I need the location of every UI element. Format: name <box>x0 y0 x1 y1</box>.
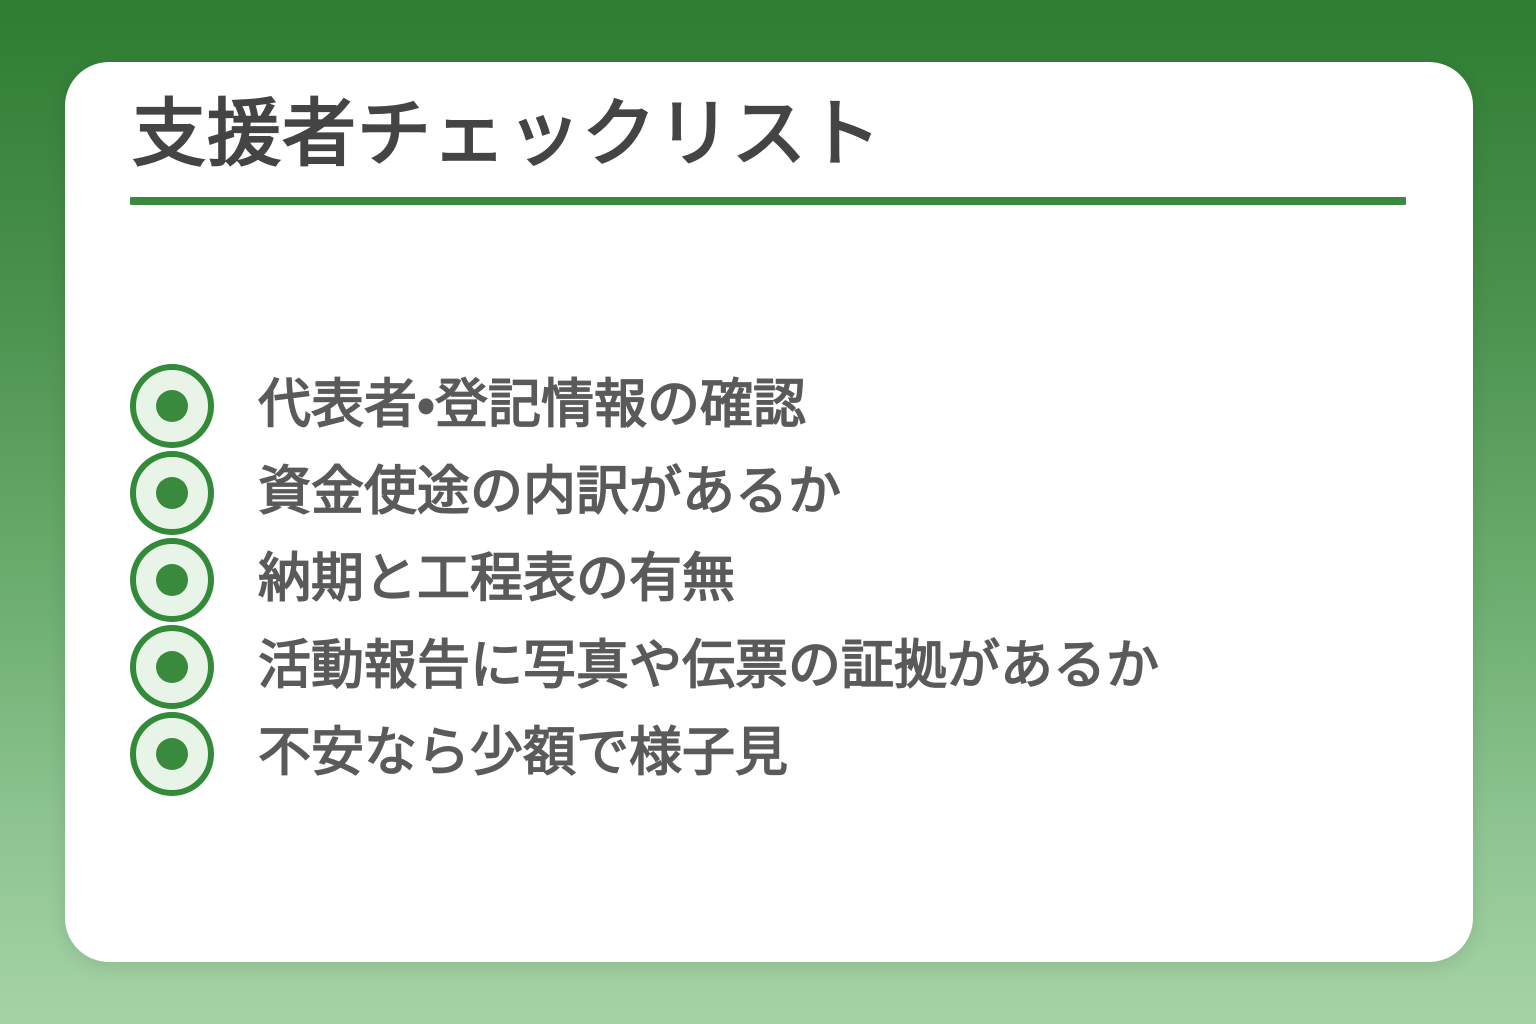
title-underline-rule <box>130 197 1406 205</box>
list-item[interactable]: 資金使途の内訳があるか <box>130 449 1159 536</box>
card-inner: 支援者チェックリスト 代表者・登記情報の確認 資金使途の内訳があるか <box>130 95 1408 929</box>
bullet-dot <box>156 390 188 422</box>
list-item-label: 活動報告に写真や伝票の証拠があるか <box>258 637 1159 695</box>
list-item-label: 納期と工程表の有無 <box>258 550 735 608</box>
filled-radio-circle-icon <box>130 364 214 448</box>
list-item[interactable]: 不安なら少額で様子見 <box>130 710 1159 797</box>
list-item[interactable]: 代表者・登記情報の確認 <box>130 362 1159 449</box>
filled-radio-circle-icon <box>130 538 214 622</box>
filled-radio-circle-icon <box>130 451 214 535</box>
content-card: 支援者チェックリスト 代表者・登記情報の確認 資金使途の内訳があるか <box>65 62 1473 962</box>
list-item-label: 資金使途の内訳があるか <box>258 463 841 521</box>
bullet-dot <box>156 477 188 509</box>
bullet-dot <box>156 738 188 770</box>
page-title: 支援者チェックリスト <box>130 95 1408 175</box>
bullet-dot <box>156 651 188 683</box>
filled-radio-circle-icon <box>130 625 214 709</box>
checklist: 代表者・登記情報の確認 資金使途の内訳があるか 納期と工程表の有無 <box>130 362 1159 797</box>
bullet-dot <box>156 564 188 596</box>
list-item-label: 不安なら少額で様子見 <box>258 724 788 782</box>
list-item[interactable]: 納期と工程表の有無 <box>130 536 1159 623</box>
filled-radio-circle-icon <box>130 712 214 796</box>
list-item-label: 代表者・登記情報の確認 <box>258 376 806 434</box>
list-item[interactable]: 活動報告に写真や伝票の証拠があるか <box>130 623 1159 710</box>
slide-background: 支援者チェックリスト 代表者・登記情報の確認 資金使途の内訳があるか <box>0 0 1536 1024</box>
